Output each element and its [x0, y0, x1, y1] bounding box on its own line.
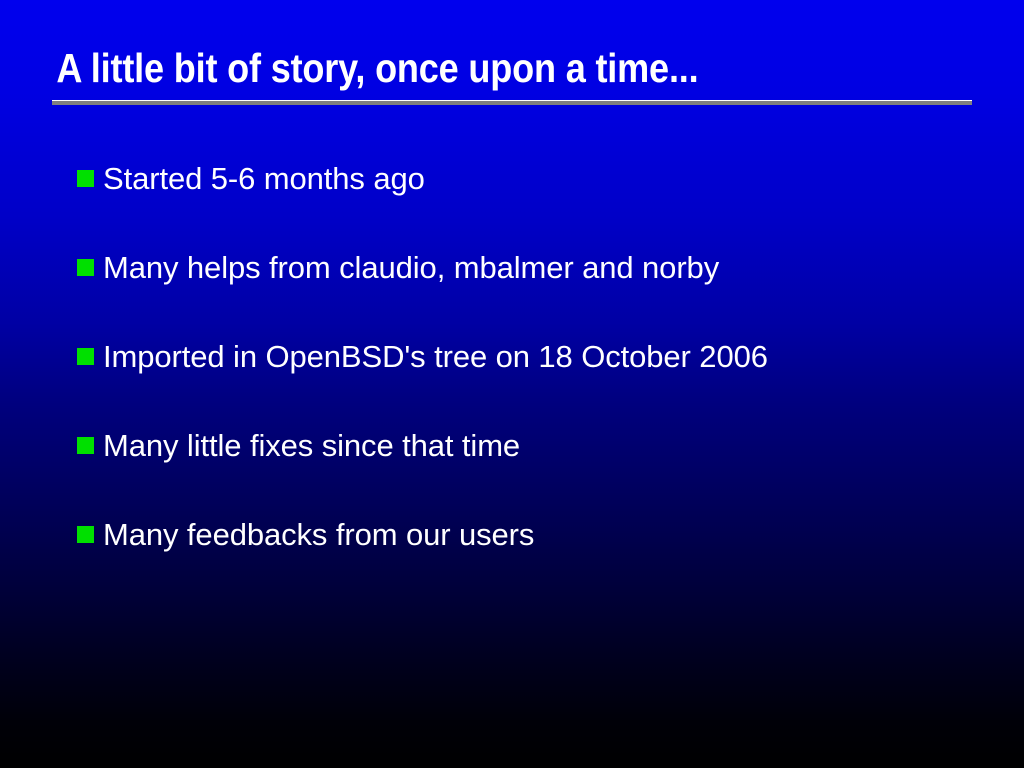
square-bullet-icon [77, 437, 94, 454]
list-item-label: Many feedbacks from our users [103, 516, 977, 554]
list-item: Started 5-6 months ago [77, 160, 977, 249]
square-bullet-icon [77, 348, 94, 365]
square-bullet-icon [77, 526, 94, 543]
list-item: Imported in OpenBSD's tree on 18 October… [77, 338, 977, 427]
list-item: Many little fixes since that time [77, 427, 977, 516]
slide-title-block: A little bit of story, once upon a time.… [52, 44, 972, 92]
square-bullet-icon [77, 170, 94, 187]
list-item-label: Many helps from claudio, mbalmer and nor… [103, 249, 977, 287]
list-item-label: Many little fixes since that time [103, 427, 977, 465]
list-item: Many feedbacks from our users [77, 516, 977, 605]
list-item: Many helps from claudio, mbalmer and nor… [77, 249, 977, 338]
list-item-label: Started 5-6 months ago [103, 160, 977, 198]
title-underline-divider [52, 100, 972, 105]
square-bullet-icon [77, 259, 94, 276]
presentation-slide: A little bit of story, once upon a time.… [0, 0, 1024, 768]
page-title: A little bit of story, once upon a time.… [52, 44, 862, 92]
bullet-list: Started 5-6 months ago Many helps from c… [77, 160, 977, 605]
list-item-label: Imported in OpenBSD's tree on 18 October… [103, 338, 977, 376]
